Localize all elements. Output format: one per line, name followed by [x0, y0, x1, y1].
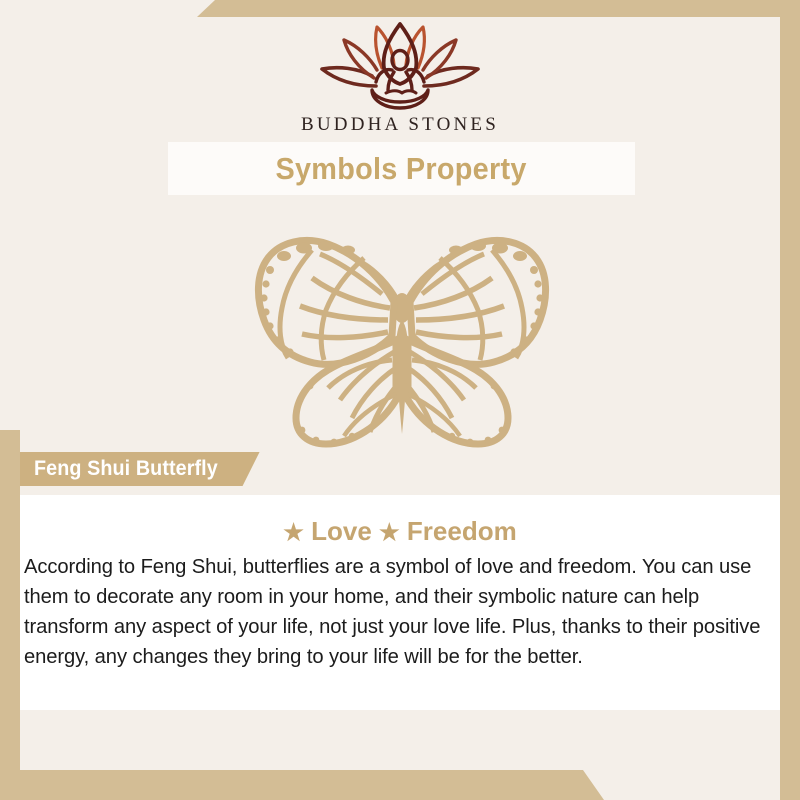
- butterfly-illustration: [212, 228, 592, 450]
- page-title: Symbols Property: [276, 151, 527, 187]
- star-mid-icon: ★: [379, 519, 400, 545]
- content-subtitle: ★ Love ★ Freedom: [0, 516, 800, 547]
- left-accent-strip: [0, 430, 20, 770]
- top-accent-band: [0, 0, 800, 17]
- ribbon-label: Feng Shui Butterfly: [34, 457, 218, 481]
- bottom-accent-band: [0, 770, 800, 800]
- brand-header: BUDDHA STONES: [0, 20, 800, 136]
- poster-root: BUDDHA STONES Symbols Property: [0, 0, 800, 800]
- lotus-meditation-figure-icon: [314, 20, 486, 112]
- butterfly-icon: [212, 228, 592, 450]
- body-paragraph: According to Feng Shui, butterflies are …: [24, 552, 765, 672]
- title-band: Symbols Property: [168, 142, 635, 195]
- brand-wordmark: BUDDHA STONES: [0, 114, 800, 136]
- subtitle-word-freedom: Freedom: [407, 516, 517, 546]
- star-left-icon: ★: [283, 519, 304, 545]
- section-ribbon: Feng Shui Butterfly: [20, 452, 260, 486]
- subtitle-word-love: Love: [311, 516, 372, 546]
